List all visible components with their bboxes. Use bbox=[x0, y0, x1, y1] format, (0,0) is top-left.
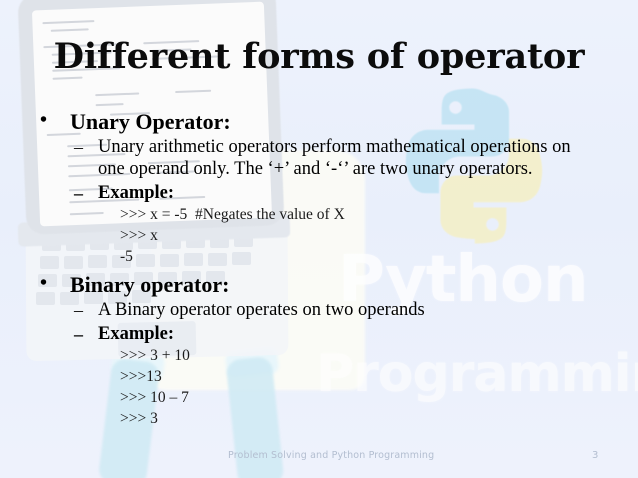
code-line: >>>13 bbox=[26, 366, 620, 387]
sub-item-unary-description-cont: one operand only. The ‘+’ and ‘-‘’ are t… bbox=[26, 158, 620, 180]
section-binary-operator: • Binary operator: – A Binary operator o… bbox=[26, 271, 620, 429]
page-title: Different forms of operator bbox=[0, 36, 638, 78]
sub-item-line-1: Example: bbox=[98, 183, 174, 203]
code-line: >>> 3 bbox=[26, 408, 620, 429]
presentation-slide: Python Programming Different forms of op… bbox=[0, 0, 638, 478]
slide-body: • Unary Operator: – Unary arithmetic ope… bbox=[26, 108, 620, 429]
bullet-heading-text: Binary operator: bbox=[70, 272, 229, 297]
sub-item-unary-example-label: – Example: bbox=[26, 182, 620, 204]
footer-text: Problem Solving and Python Programming bbox=[228, 450, 434, 461]
sub-item-line-1: Unary arithmetic operators perform mathe… bbox=[98, 137, 571, 157]
sub-item-binary-example-label: – Example: bbox=[26, 323, 620, 345]
dash-marker: – bbox=[74, 182, 83, 204]
bullet-heading-text: Unary Operator: bbox=[70, 109, 231, 134]
sub-item-line-1: A Binary operator operates on two operan… bbox=[98, 300, 425, 320]
code-line: -5 bbox=[26, 246, 620, 267]
sub-item-unary-description: – Unary arithmetic operators perform mat… bbox=[26, 136, 620, 158]
code-line: >>> x = -5 #Negates the value of X bbox=[26, 204, 620, 225]
code-line: >>> 10 – 7 bbox=[26, 387, 620, 408]
bullet-marker: • bbox=[40, 107, 47, 134]
bullet-heading-binary: • Binary operator: bbox=[26, 271, 620, 298]
slide-number: 3 bbox=[592, 450, 598, 461]
dash-marker: – bbox=[74, 136, 83, 158]
dash-marker: – bbox=[74, 299, 83, 321]
code-line: >>> x bbox=[26, 225, 620, 246]
section-unary-operator: • Unary Operator: – Unary arithmetic ope… bbox=[26, 108, 620, 267]
bullet-heading-unary: • Unary Operator: bbox=[26, 108, 620, 135]
slide-content: Different forms of operator • Unary Oper… bbox=[0, 0, 638, 478]
sub-item-line-2: one operand only. The ‘+’ and ‘-‘’ are t… bbox=[98, 159, 533, 179]
code-line: >>> 3 + 10 bbox=[26, 345, 620, 366]
sub-item-line-1: Example: bbox=[98, 324, 174, 344]
bullet-marker: • bbox=[40, 270, 47, 297]
sub-item-binary-description: – A Binary operator operates on two oper… bbox=[26, 299, 620, 321]
dash-marker: – bbox=[74, 323, 83, 345]
